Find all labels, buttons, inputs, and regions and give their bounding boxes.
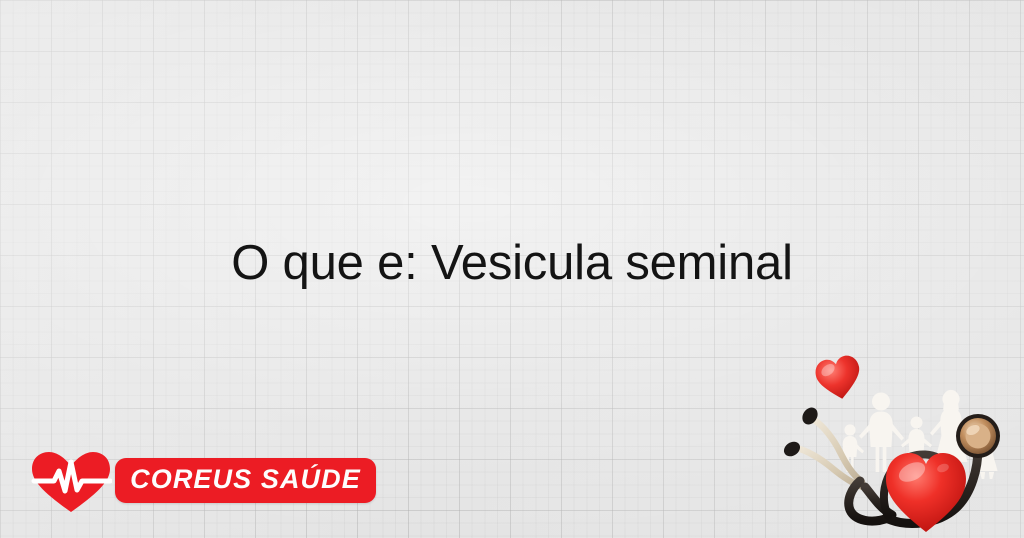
health-family-stethoscope-illustration	[780, 348, 1024, 534]
slide-canvas: O que e: Vesicula seminal COREUS SAÚDE	[0, 0, 1024, 538]
brand-name-badge: COREUS SAÚDE	[115, 458, 376, 503]
stethoscope-chestpiece-icon	[956, 414, 1000, 458]
small-heart-icon	[813, 353, 865, 403]
brand-logo: COREUS SAÚDE	[30, 450, 350, 514]
page-title: O que e: Vesicula seminal	[0, 236, 1024, 291]
heart-pulse-icon	[30, 450, 112, 514]
brand-name-label: COREUS SAÚDE	[130, 464, 361, 495]
